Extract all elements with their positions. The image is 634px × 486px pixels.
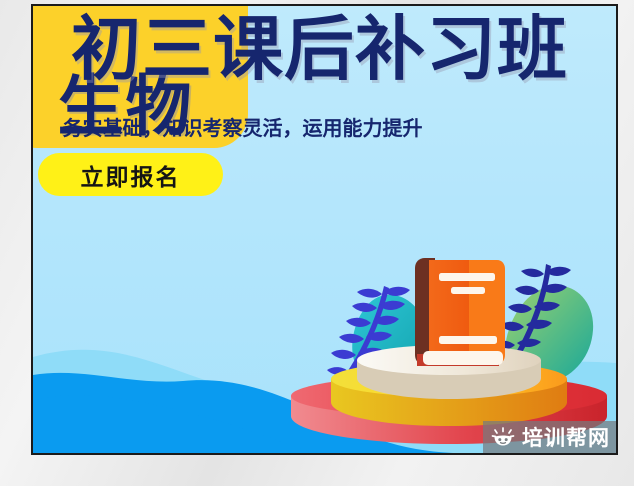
page-title: 初三课后补习班 xyxy=(31,14,612,84)
watermark-label: 培训帮网 xyxy=(522,422,610,452)
image-canvas: 生物 初三课后补习班 务实基础，知识考察灵活，运用能力提升 立即报名 xyxy=(0,0,634,486)
enroll-now-label: 立即报名 xyxy=(81,158,181,192)
enroll-now-button[interactable]: 立即报名 xyxy=(38,153,223,196)
subtitle-text: 务实基础，知识考察灵活，运用能力提升 xyxy=(31,112,465,141)
watermark: 培训帮网 xyxy=(483,421,616,453)
course-poster: 生物 初三课后补习班 务实基础，知识考察灵活，运用能力提升 立即报名 xyxy=(31,4,618,455)
sun-face-icon xyxy=(491,426,515,448)
book-icon xyxy=(415,258,505,366)
